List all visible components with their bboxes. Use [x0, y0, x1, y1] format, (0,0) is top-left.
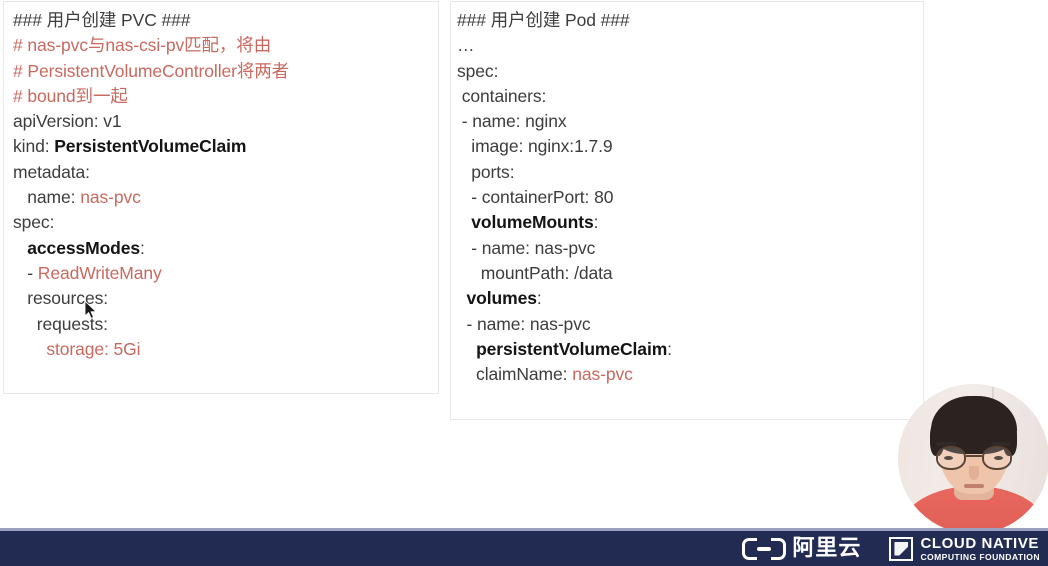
- code-line: mountPath: /data: [451, 261, 923, 286]
- code-segment: ports:: [457, 162, 514, 182]
- code-line: volumes:: [451, 286, 923, 311]
- code-line: - name: nginx: [451, 109, 923, 134]
- code-segment: -: [13, 263, 38, 283]
- code-segment: :: [594, 212, 599, 232]
- presenter-webcam-bubble: [898, 384, 1048, 534]
- code-segment: accessModes: [27, 238, 140, 258]
- code-segment: [457, 288, 467, 308]
- code-line: name: nas-pvc: [4, 185, 438, 210]
- code-line: claimName: nas-pvc: [451, 362, 923, 387]
- pod-code-panel: ### 用户创建 Pod ###…spec: containers: - nam…: [450, 1, 924, 420]
- alibaba-dash: [757, 547, 771, 551]
- code-segment: [13, 339, 46, 359]
- alibaba-bracket-left: [742, 538, 757, 560]
- presenter-mouth: [964, 484, 984, 488]
- code-segment: 用户创建: [47, 10, 117, 30]
- code-segment: PersistentVolumeClaim: [54, 136, 246, 156]
- code-segment: metadata:: [13, 162, 90, 182]
- code-line: - name: nas-pvc: [451, 312, 923, 337]
- code-segment: - name: nas-pvc: [457, 314, 591, 334]
- code-line: spec:: [451, 59, 923, 84]
- alibaba-cloud-logo: 阿里云: [742, 538, 861, 560]
- code-segment: [457, 212, 471, 232]
- cncf-wordmark: CLOUD NATIVE COMPUTING FOUNDATION: [920, 536, 1040, 562]
- code-line: storage: 5Gi: [4, 337, 438, 362]
- code-segment: nas-pvc: [572, 364, 633, 384]
- cncf-title-line2: COMPUTING FOUNDATION: [920, 553, 1040, 562]
- code-line: persistentVolumeClaim:: [451, 337, 923, 362]
- code-segment: [457, 339, 476, 359]
- code-line: containers:: [451, 84, 923, 109]
- alibaba-cloud-wordmark: 阿里云: [792, 538, 861, 560]
- pod-code-lines: ### 用户创建 Pod ###…spec: containers: - nam…: [451, 2, 923, 387]
- code-segment: - containerPort: 80: [457, 187, 613, 207]
- code-segment: containers:: [457, 86, 546, 106]
- glasses-lens-left: [936, 446, 966, 470]
- code-segment: ###: [457, 10, 491, 30]
- code-segment: - name: nginx: [457, 111, 567, 131]
- logo-row: 阿里云 CLOUD NATIVE COMPUTING FOUNDATION: [742, 531, 1040, 566]
- code-segment: resources:: [13, 288, 108, 308]
- code-line: # nas-pvc与nas-csi-pv匹配，将由: [4, 33, 438, 58]
- code-segment: spec:: [457, 61, 498, 81]
- code-segment: [13, 238, 27, 258]
- code-line: ### 用户创建 PVC ###: [4, 8, 438, 33]
- code-segment: persistentVolumeClaim: [476, 339, 667, 359]
- glasses-bridge: [966, 455, 982, 457]
- cncf-helm-square-icon: [889, 537, 913, 561]
- presenter-nose: [969, 466, 979, 480]
- code-segment: Pod ###: [560, 10, 629, 30]
- code-line: volumeMounts:: [451, 210, 923, 235]
- code-segment: volumes: [467, 288, 537, 308]
- cncf-logo: CLOUD NATIVE COMPUTING FOUNDATION: [889, 536, 1040, 562]
- code-line: requests:: [4, 312, 438, 337]
- code-segment: nas-pvc: [80, 187, 141, 207]
- code-segment: PVC ###: [116, 10, 190, 30]
- code-line: # bound到一起: [4, 84, 438, 109]
- code-segment: mountPath: /data: [457, 263, 613, 283]
- code-line: resources:: [4, 286, 438, 311]
- bottom-branding-bar: 阿里云 CLOUD NATIVE COMPUTING FOUNDATION: [0, 528, 1048, 566]
- alibaba-cloud-mark-icon: [742, 538, 786, 560]
- glasses-lens-right: [982, 446, 1012, 470]
- pvc-code-lines: ### 用户创建 PVC #### nas-pvc与nas-csi-pv匹配，将…: [4, 2, 438, 362]
- code-line: - containerPort: 80: [451, 185, 923, 210]
- code-line: - ReadWriteMany: [4, 261, 438, 286]
- code-line: spec:: [4, 210, 438, 235]
- code-segment: storage: 5Gi: [46, 339, 140, 359]
- code-segment: :: [140, 238, 145, 258]
- code-segment: requests:: [13, 314, 108, 334]
- code-segment: # bound到一起: [13, 86, 128, 106]
- code-line: …: [451, 33, 923, 58]
- code-segment: image: nginx:1.7.9: [457, 136, 613, 156]
- cncf-title-line1: CLOUD NATIVE: [920, 536, 1040, 551]
- code-segment: 用户创建: [491, 10, 561, 30]
- code-line: kind: PersistentVolumeClaim: [4, 134, 438, 159]
- alibaba-bracket-right: [771, 538, 786, 560]
- code-line: image: nginx:1.7.9: [451, 134, 923, 159]
- code-line: ports:: [451, 160, 923, 185]
- code-segment: spec:: [13, 212, 54, 232]
- code-segment: …: [457, 35, 477, 55]
- code-line: - name: nas-pvc: [451, 236, 923, 261]
- code-segment: apiVersion: v1: [13, 111, 122, 131]
- code-line: metadata:: [4, 160, 438, 185]
- code-line: accessModes:: [4, 236, 438, 261]
- code-segment: ReadWriteMany: [38, 263, 162, 283]
- code-segment: kind:: [13, 136, 54, 156]
- pvc-code-panel: ### 用户创建 PVC #### nas-pvc与nas-csi-pv匹配，将…: [3, 1, 439, 394]
- code-segment: # nas-pvc与nas-csi-pv匹配，将由: [13, 35, 271, 55]
- code-segment: volumeMounts: [471, 212, 593, 232]
- code-segment: :: [667, 339, 672, 359]
- slide-root: ### 用户创建 PVC #### nas-pvc与nas-csi-pv匹配，将…: [0, 0, 1048, 566]
- code-segment: :: [537, 288, 542, 308]
- code-line: apiVersion: v1: [4, 109, 438, 134]
- cncf-helm-glyph: [894, 542, 908, 556]
- code-segment: - name: nas-pvc: [457, 238, 595, 258]
- code-segment: claimName:: [457, 364, 572, 384]
- code-segment: ###: [13, 10, 47, 30]
- code-segment: # PersistentVolumeController将两者: [13, 61, 289, 81]
- code-line: ### 用户创建 Pod ###: [451, 8, 923, 33]
- code-line: # PersistentVolumeController将两者: [4, 59, 438, 84]
- code-segment: name:: [13, 187, 80, 207]
